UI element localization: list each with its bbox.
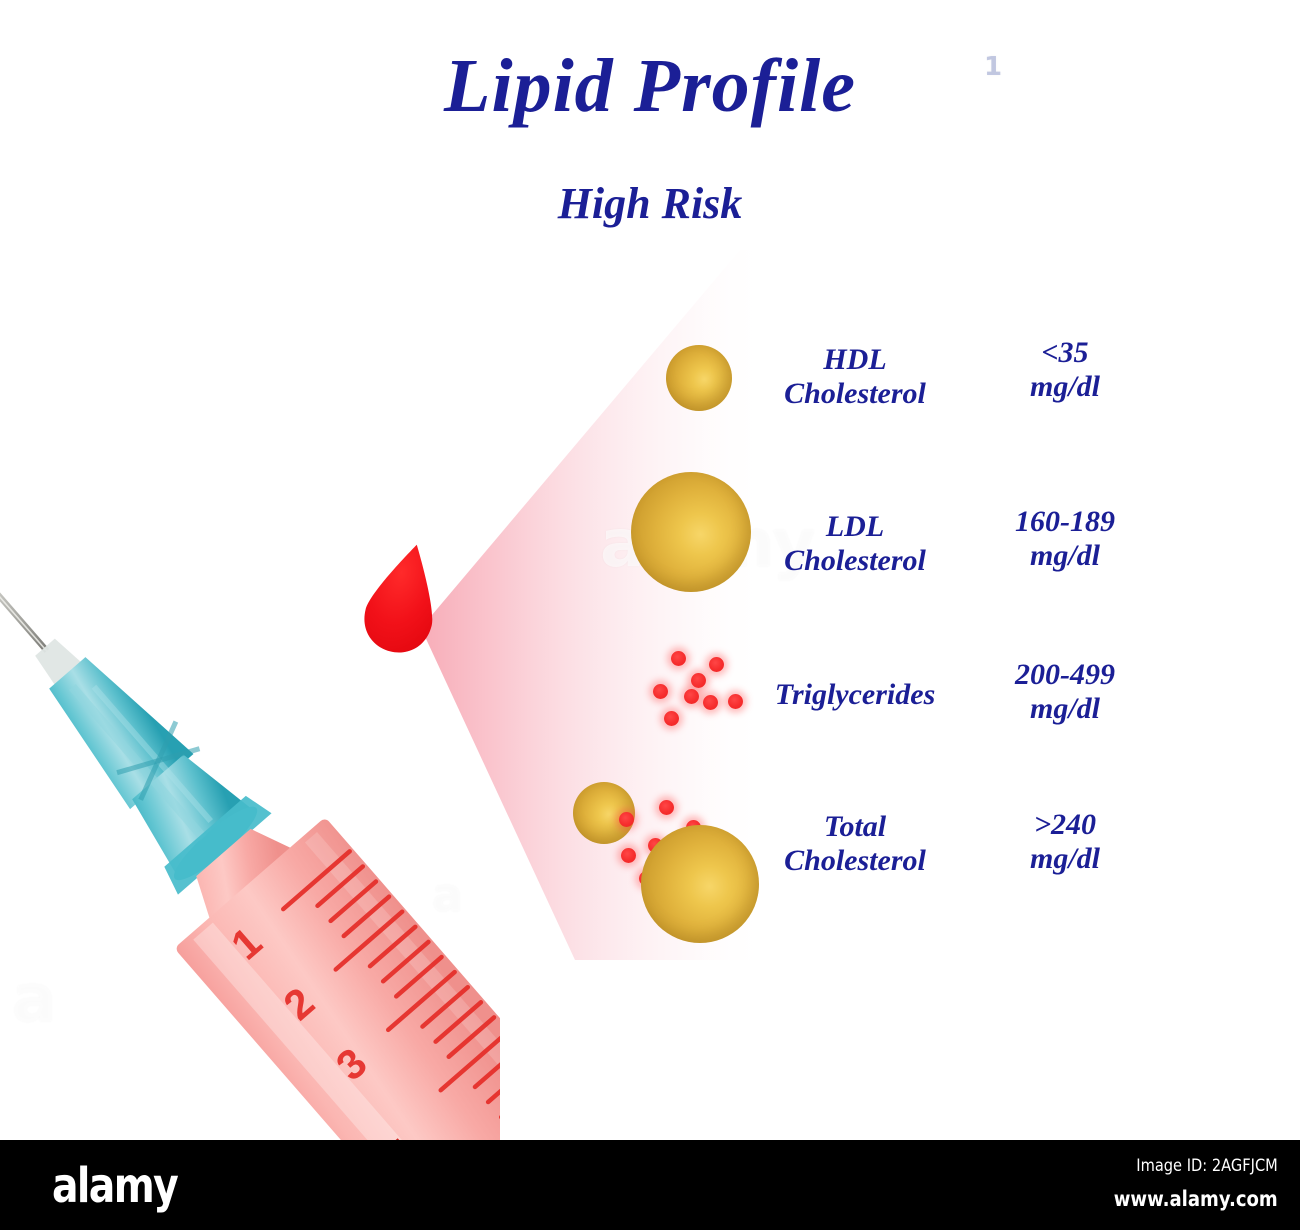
total-label-line2: Cholesterol [735, 844, 975, 878]
hdl-value: <35 mg/dl [975, 336, 1155, 404]
hdl-label-line1: HDL [735, 343, 975, 377]
triglycerides-label-line1: Triglycerides [735, 678, 975, 712]
graduation-3: 3 [327, 1039, 375, 1090]
lipid-dot [664, 711, 679, 726]
hdl-value-line2: mg/dl [975, 370, 1155, 404]
lipid-dot [691, 673, 706, 688]
lipid-dot [653, 684, 668, 699]
ldl-value-line1: 160-189 [975, 505, 1155, 539]
ldl-sphere-icon [631, 472, 751, 592]
needle-hub [21, 632, 272, 894]
lipid-dot [619, 812, 634, 827]
triglycerides-value: 200-499 mg/dl [975, 658, 1155, 726]
total-value-line2: mg/dl [975, 842, 1155, 876]
alamy-watermark-3: a [12, 960, 55, 1037]
alamy-footer-bar: alamy Image ID: 2AGFJCM www.alamy.com [0, 1140, 1300, 1230]
lipid-dot [703, 695, 718, 710]
page-subtitle: High Risk [0, 182, 1300, 226]
lipid-dot [621, 848, 636, 863]
hdl-sphere-icon [666, 345, 732, 411]
ldl-label-line2: Cholesterol [735, 544, 975, 578]
syringe-illustration: 1 2 3 [0, 560, 500, 1230]
needle-collar [31, 635, 84, 689]
alamy-url-link[interactable]: www.alamy.com [1114, 1184, 1278, 1216]
image-id-text: Image ID: 2AGFJCM [1114, 1154, 1278, 1180]
footer-meta: Image ID: 2AGFJCM www.alamy.com [1087, 1154, 1278, 1215]
alamy-watermark-2: a [432, 868, 461, 922]
needle-shaft [0, 560, 49, 653]
hdl-label: HDL Cholesterol [735, 343, 975, 411]
lipid-dot [709, 657, 724, 672]
graduation-2: 2 [275, 978, 323, 1029]
total-label: Total Cholesterol [735, 810, 975, 878]
total-label-line1: Total [735, 810, 975, 844]
ldl-label: LDL Cholesterol [735, 510, 975, 578]
ldl-value-line2: mg/dl [975, 539, 1155, 573]
lipid-dot [671, 651, 686, 666]
ldl-label-line1: LDL [735, 510, 975, 544]
lipid-dot [659, 800, 674, 815]
alamy-logo: alamy [52, 1158, 177, 1214]
page-title: Lipid Profile [0, 48, 1300, 124]
triglycerides-value-line2: mg/dl [975, 692, 1155, 726]
hdl-label-line2: Cholesterol [735, 377, 975, 411]
barrel-neck [181, 816, 296, 924]
ldl-value: 160-189 mg/dl [975, 505, 1155, 573]
triglycerides-label: Triglycerides [735, 678, 975, 712]
blood-drop-icon [357, 536, 450, 659]
graduation-1: 1 [222, 918, 270, 969]
triglycerides-value-line1: 200-499 [975, 658, 1155, 692]
lipid-profile-infographic: 1 alamy a Lipid Profile High Risk HDL Ch… [0, 0, 1300, 1230]
lipid-dot [684, 689, 699, 704]
total-value: >240 mg/dl [975, 808, 1155, 876]
total-value-line1: >240 [975, 808, 1155, 842]
hdl-value-line1: <35 [975, 336, 1155, 370]
